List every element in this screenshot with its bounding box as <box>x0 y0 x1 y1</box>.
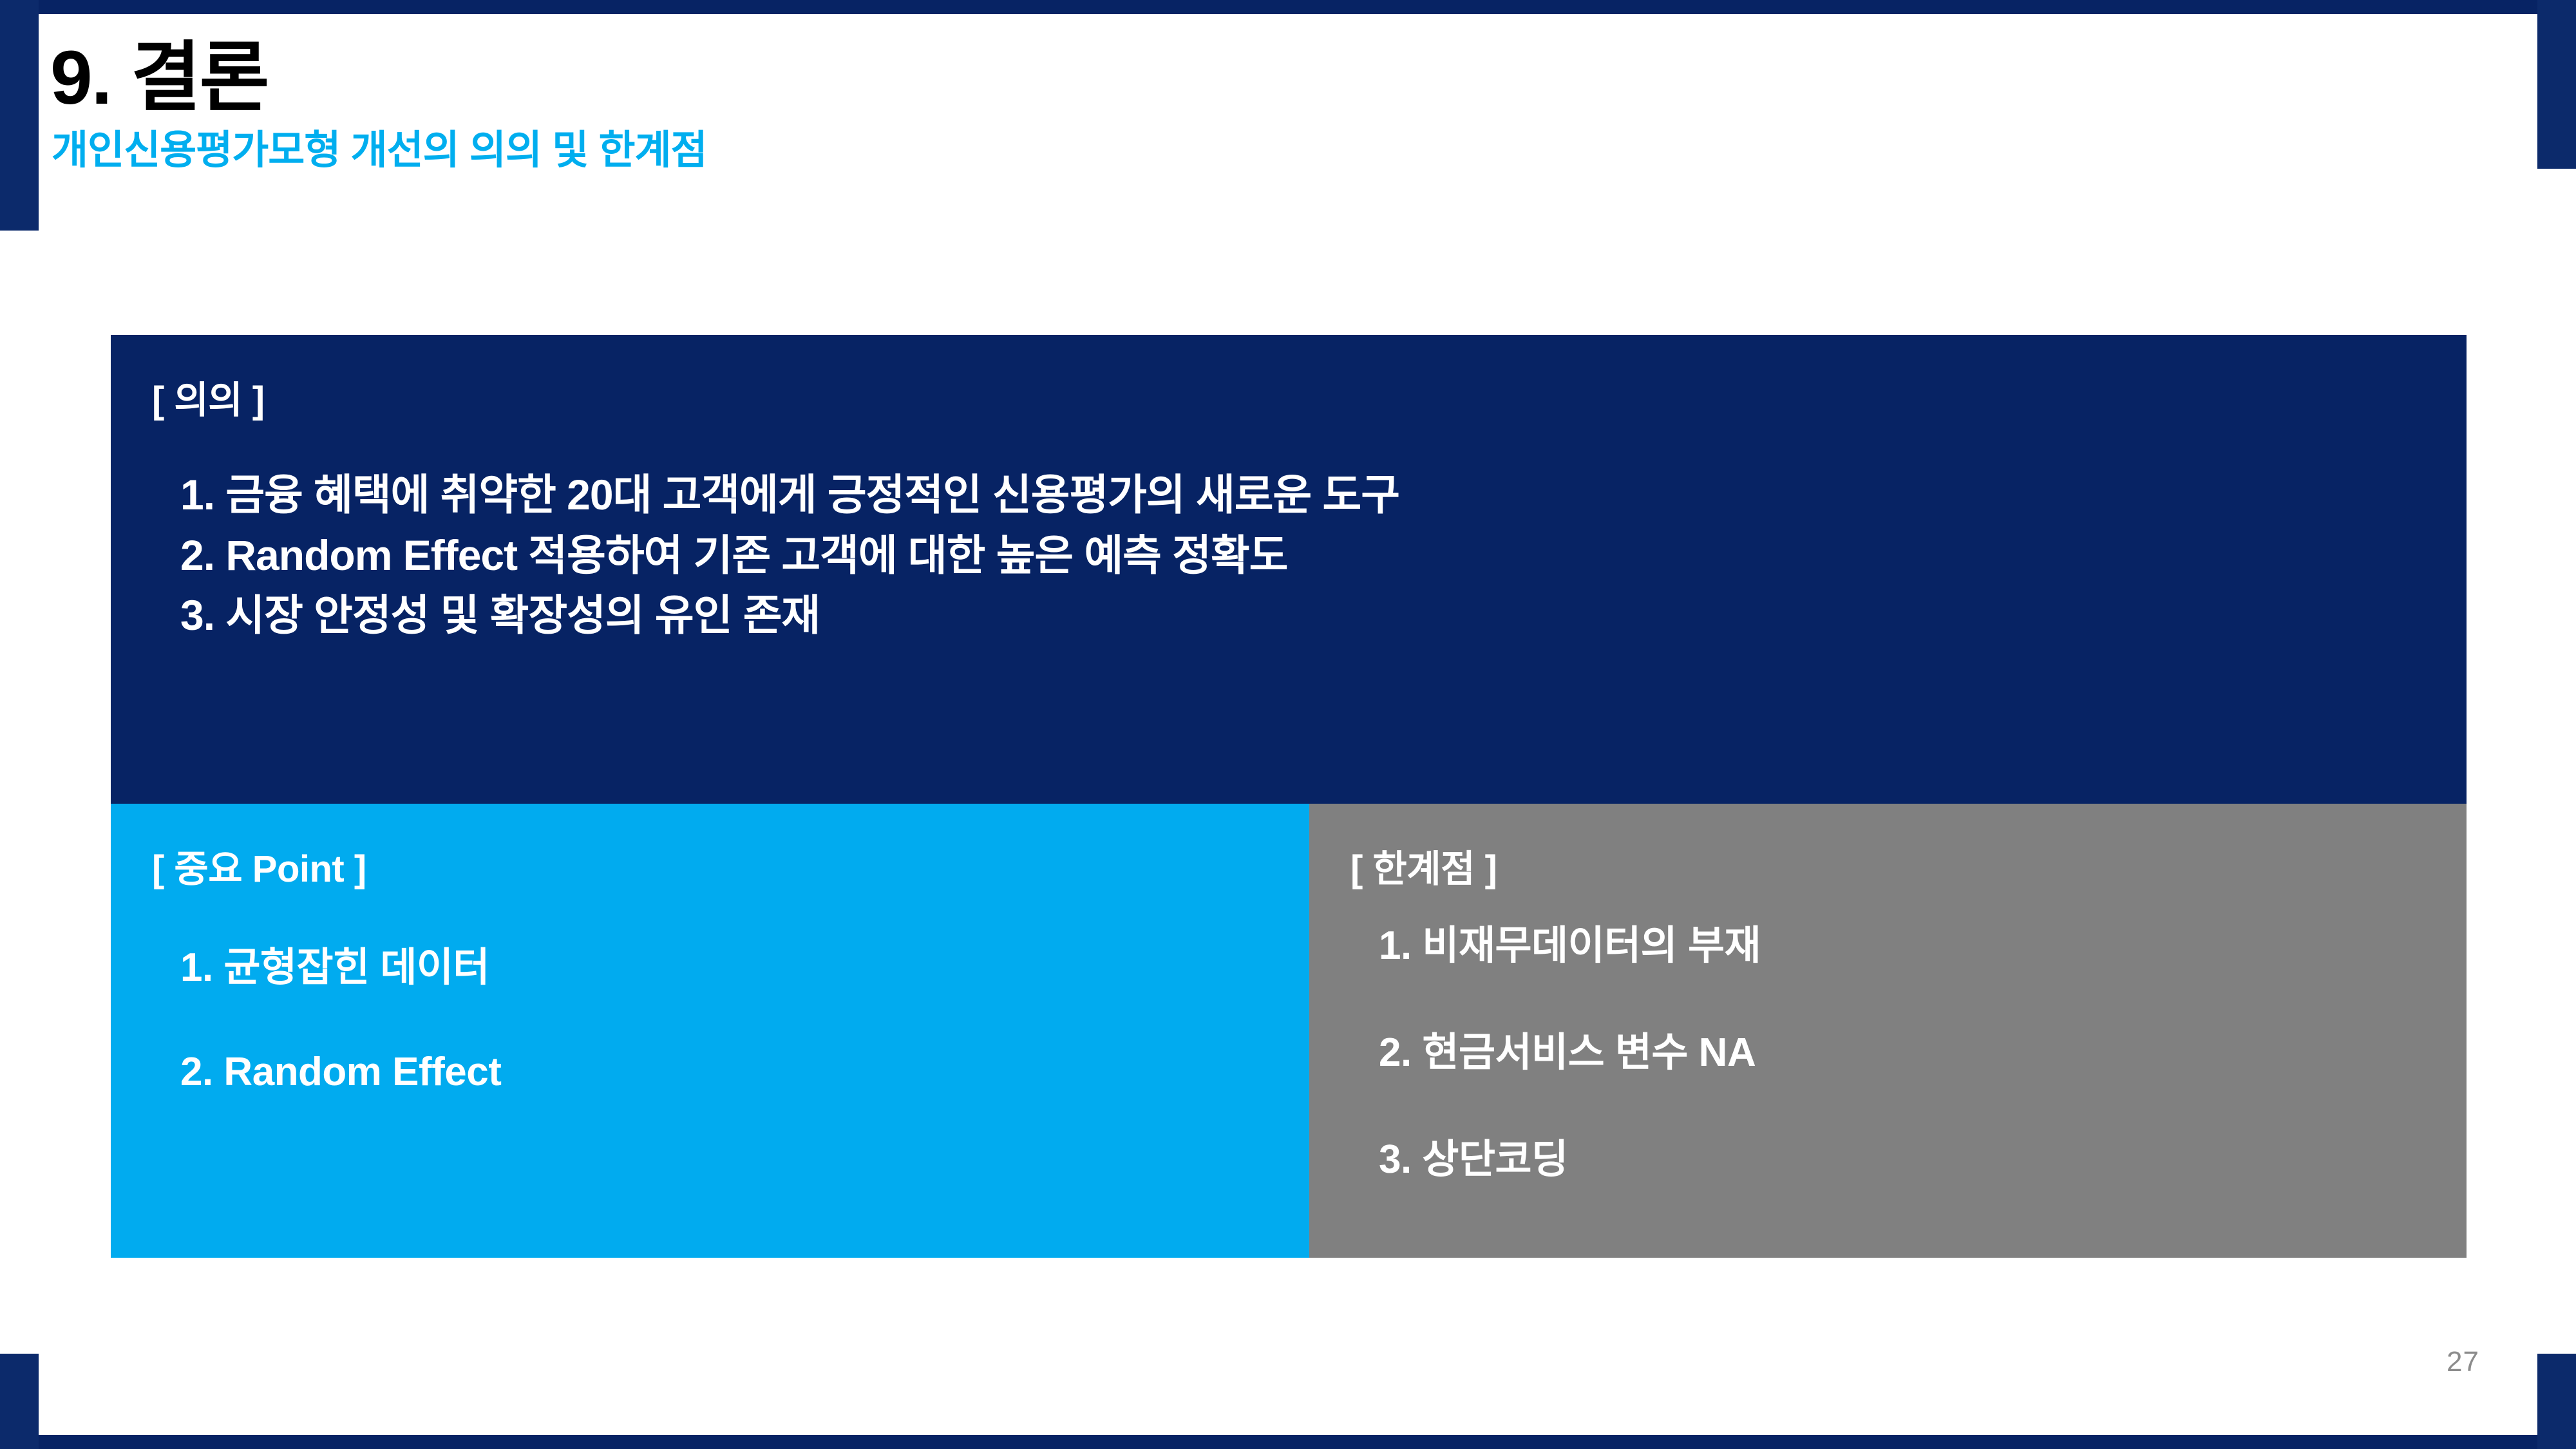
panel-limitations-list: 1. 비재무데이터의 부재 2. 현금서비스 변수 NA 3. 상단코딩 <box>1350 926 2425 1180</box>
panel-limitations: [ 한계점 ] 1. 비재무데이터의 부재 2. 현금서비스 변수 NA 3. … <box>1309 804 2467 1258</box>
panel-limitations-heading: [ 한계점 ] <box>1350 838 2425 893</box>
page-title: 9. 결론 <box>50 39 1982 118</box>
frame-left-top-block <box>0 0 39 231</box>
page-number: 27 <box>2447 1346 2479 1378</box>
slide-root: 9. 결론 개인신용평가모형 개선의 의의 및 한계점 [ 의의 ] 1. 금융… <box>0 0 2576 1449</box>
list-item: 3. 상단코딩 <box>1379 1140 2425 1180</box>
frame-bottom-bar <box>0 1435 2576 1449</box>
panel-key-point: [ 중요 Point ] 1. 균형잡힌 데이터 2. Random Effec… <box>111 804 1309 1258</box>
panel-significance-list: 1. 금융 혜택에 취약한 20대 고객에게 긍정적인 신용평가의 새로운 도구… <box>152 465 2425 646</box>
frame-right-top-block <box>2537 0 2576 169</box>
list-item: 1. 비재무데이터의 부재 <box>1379 926 2425 966</box>
list-item: 1. 균형잡힌 데이터 <box>180 948 1268 988</box>
list-item: 2. Random Effect <box>180 1052 1268 1092</box>
list-item: 1. 금융 혜택에 취약한 20대 고객에게 긍정적인 신용평가의 새로운 도구 <box>180 465 2425 526</box>
slide-header: 9. 결론 개인신용평가모형 개선의 의의 및 한계점 <box>50 39 1982 173</box>
panel-key-point-heading: [ 중요 Point ] <box>152 838 1268 893</box>
panel-row: [ 중요 Point ] 1. 균형잡힌 데이터 2. Random Effec… <box>111 804 2467 1258</box>
panel-significance-heading: [ 의의 ] <box>152 370 2425 424</box>
frame-left-bottom-block <box>0 1354 39 1449</box>
page-subtitle: 개인신용평가모형 개선의 의의 및 한계점 <box>52 128 1982 173</box>
frame-top-bar <box>0 0 2576 14</box>
list-item: 2. Random Effect 적용하여 기존 고객에 대한 높은 예측 정확… <box>180 526 2425 586</box>
list-item: 2. 현금서비스 변수 NA <box>1379 1033 2425 1073</box>
list-item: 3. 시장 안정성 및 확장성의 유인 존재 <box>180 585 2425 646</box>
panel-key-point-list: 1. 균형잡힌 데이터 2. Random Effect <box>152 948 1268 1092</box>
frame-right-bottom-block <box>2537 1354 2576 1449</box>
panel-significance: [ 의의 ] 1. 금융 혜택에 취약한 20대 고객에게 긍정적인 신용평가의… <box>111 335 2467 804</box>
